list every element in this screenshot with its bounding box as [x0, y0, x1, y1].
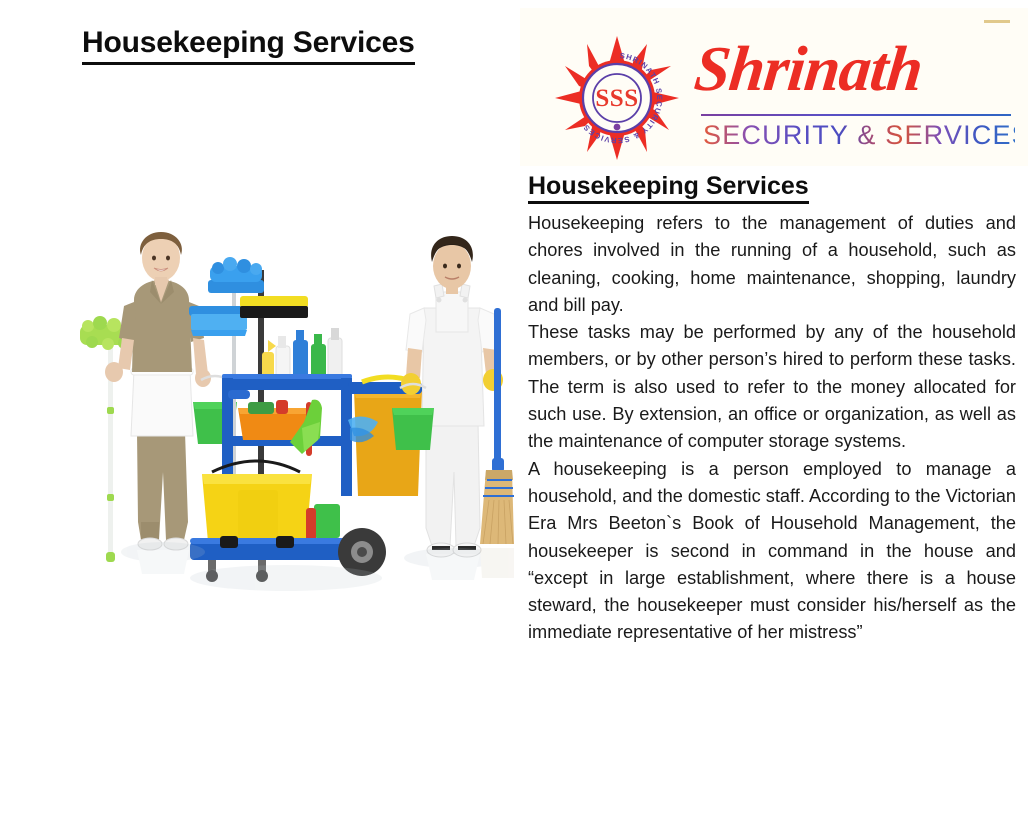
emblem-sss-text: SSS	[595, 85, 638, 112]
housekeeping-photo-illustration	[62, 222, 514, 594]
right-column: SHRINATH SECURITY & SERVICES SSS Shrinat…	[515, 0, 1031, 820]
article-heading: Housekeeping Services	[528, 172, 809, 204]
company-logo-banner: SHRINATH SECURITY & SERVICES SSS Shrinat…	[520, 8, 1028, 166]
left-column: Housekeeping Services	[0, 0, 515, 820]
article-paragraph-2: These tasks may be performed by any of t…	[528, 319, 1016, 455]
logo-wordmark: Shrinath SECURITY & SERVICES	[695, 30, 1015, 150]
brand-name: Shrinath	[691, 30, 1019, 108]
article-paragraph-1: Housekeeping refers to the management of…	[528, 210, 1016, 319]
article-paragraph-3: A housekeeping is a person employed to m…	[528, 456, 1016, 647]
article-body: Housekeeping Services Housekeeping refer…	[528, 172, 1031, 647]
sunburst-emblem-icon: SHRINATH SECURITY & SERVICES SSS	[553, 34, 681, 162]
page-title: Housekeeping Services	[82, 27, 415, 65]
push-broom	[240, 296, 308, 318]
brand-divider-rule	[701, 114, 1011, 116]
brand-subtitle: SECURITY & SERVICES	[703, 120, 1015, 150]
housekeeping-staff-photo	[62, 222, 514, 594]
scan-artifact	[984, 20, 1010, 23]
